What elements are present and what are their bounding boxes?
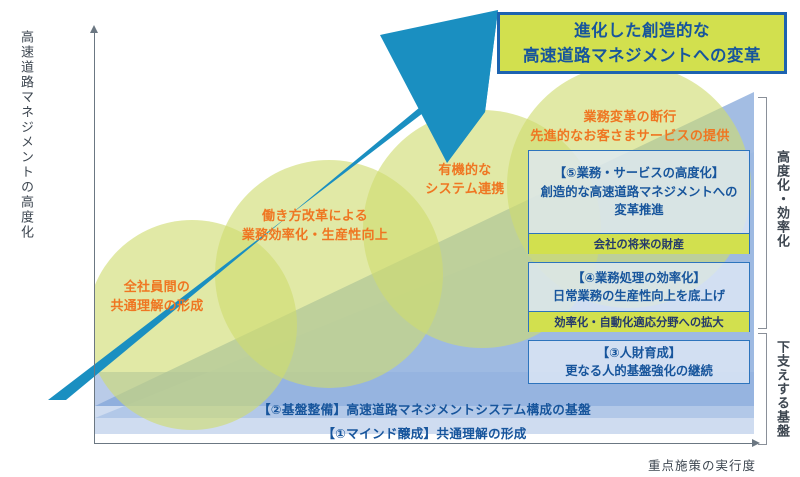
initiative-box-4-title: 【④業務処理の効率化】 bbox=[572, 269, 705, 288]
initiative-box-5: 【⑤業務・サービスの高度化】 創造的な高速道路マネジメントへの 変革推進 会社の… bbox=[528, 150, 750, 254]
foundation-bar-1: 【①マインド醸成】共通理解の形成 bbox=[95, 421, 754, 444]
main-title-line-2: 高速道路マネジメントへの変革 bbox=[523, 43, 761, 68]
circle-1-line-1: 全社員間の bbox=[67, 278, 247, 297]
growth-arrow-icon bbox=[30, 0, 510, 400]
initiative-box-5-line-2: 創造的な高速道路マネジメントへの bbox=[541, 183, 738, 202]
y-axis-label: 高速道路マネジメントの高度化 bbox=[12, 30, 38, 290]
circle-3-label: 有機的な システム連携 bbox=[400, 161, 530, 199]
initiative-box-5-footer: 会社の将来の財産 bbox=[529, 233, 749, 254]
initiative-box-3: 【③人財育成】 更なる人的基盤強化の継続 bbox=[528, 340, 750, 384]
initiative-box-3-line-2: 更なる人的基盤強化の継続 bbox=[565, 362, 713, 381]
circle-1-line-2: 共通理解の形成 bbox=[67, 297, 247, 316]
initiative-box-5-title: 【⑤業務・サービスの高度化】 bbox=[554, 164, 724, 183]
diagram-canvas: 高速道路マネジメントの高度化 重点施策の実行度 進化した創造的な 高速道路マネジ… bbox=[0, 0, 800, 477]
main-title-box: 進化した創造的な 高速道路マネジメントへの変革 bbox=[497, 12, 787, 74]
circle-4-label: 業務変革の断行 先進的なお客さまサービスの提供 bbox=[505, 108, 755, 146]
bracket-lower-label: 下支えする基盤 bbox=[772, 340, 791, 438]
circle-1-label: 全社員間の 共通理解の形成 bbox=[67, 278, 247, 316]
circle-4-line-2: 先進的なお客さまサービスの提供 bbox=[505, 127, 755, 146]
initiative-box-3-body: 【③人財育成】 更なる人的基盤強化の継続 bbox=[529, 341, 749, 383]
circle-2-line-1: 働き方改革による bbox=[215, 207, 415, 226]
bracket-lower bbox=[758, 333, 767, 445]
main-title-line-1: 進化した創造的な bbox=[574, 18, 710, 43]
circle-3-line-1: 有機的な bbox=[400, 161, 530, 180]
circle-4-line-1: 業務変革の断行 bbox=[505, 108, 755, 127]
initiative-box-3-title: 【③人財育成】 bbox=[597, 344, 681, 363]
x-axis-label: 重点施策の実行度 bbox=[648, 455, 756, 474]
y-axis-line bbox=[94, 32, 95, 444]
y-axis-arrowhead bbox=[90, 25, 98, 33]
initiative-box-4-line-2: 日常業務の生産性向上を底上げ bbox=[553, 287, 725, 306]
initiative-box-4-footer: 効率化・自動化適応分野への拡大 bbox=[529, 311, 749, 332]
initiative-box-5-line-3: 変革推進 bbox=[614, 201, 663, 220]
initiative-box-4-body: 【④業務処理の効率化】 日常業務の生産性向上を底上げ bbox=[529, 263, 749, 311]
bracket-upper bbox=[758, 97, 767, 329]
foundation-bar-2: 【②基盤整備】高速道路マネジメントシステム構成の基盤 bbox=[95, 396, 754, 421]
circle-2-label: 働き方改革による 業務効率化・生産性向上 bbox=[215, 207, 415, 245]
bracket-upper-label: 高度化・効率化 bbox=[772, 150, 791, 248]
initiative-box-5-body: 【⑤業務・サービスの高度化】 創造的な高速道路マネジメントへの 変革推進 bbox=[529, 151, 749, 233]
circle-2-line-2: 業務効率化・生産性向上 bbox=[215, 226, 415, 245]
circle-3-line-2: システム連携 bbox=[400, 180, 530, 199]
initiative-box-4: 【④業務処理の効率化】 日常業務の生産性向上を底上げ 効率化・自動化適応分野への… bbox=[528, 262, 750, 332]
